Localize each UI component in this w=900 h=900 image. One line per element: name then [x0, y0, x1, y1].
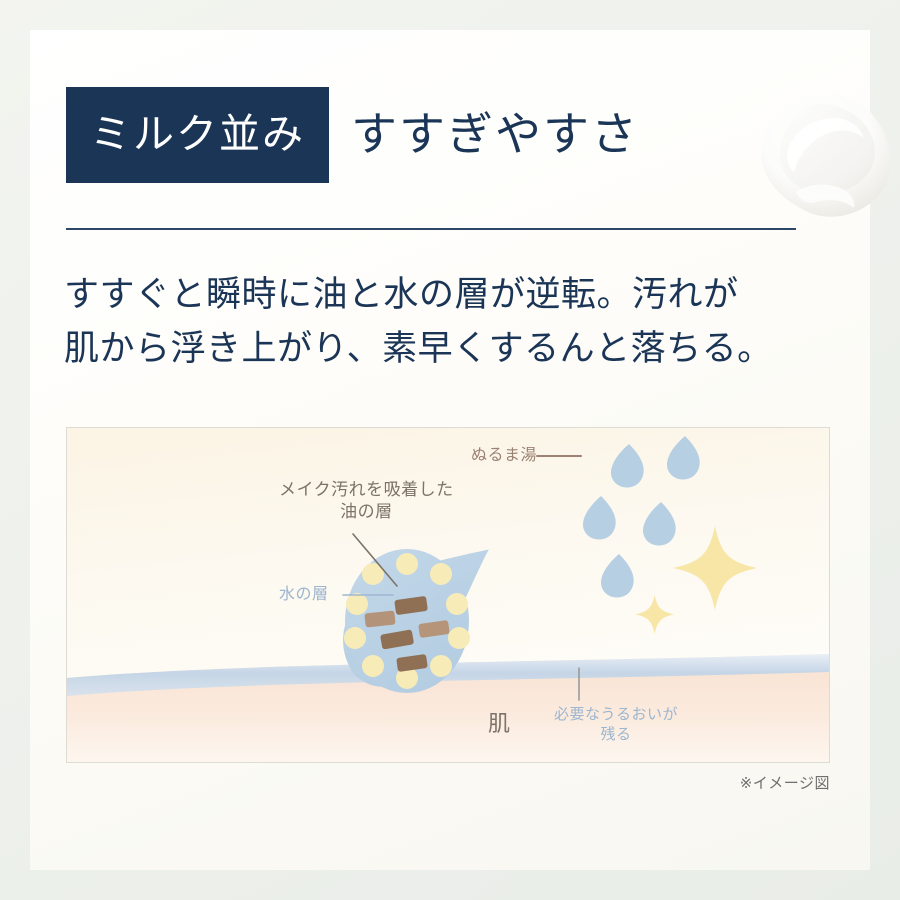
body-copy-line-1: すすぐと瞬時に油と水の層が逆転。汚れが [64, 268, 824, 322]
promo-page: ミルク並み すすぎやすさ [0, 0, 900, 900]
headline-divider [66, 228, 796, 230]
label-oil-layer-line-1: メイク汚れを吸着した [279, 479, 454, 501]
cream-dollop-icon [752, 88, 900, 228]
label-moisture-line-1: 必要なうるおいが [554, 705, 678, 725]
label-moisture-line-2: 残る [554, 725, 678, 745]
image-note: ※イメージ図 [30, 772, 830, 793]
content-card: ミルク並み すすぎやすさ [30, 30, 870, 870]
label-moisture: 必要なうるおいが 残る [554, 705, 678, 744]
mechanism-diagram: ぬるま湯 メイク汚れを吸着した 油の層 水の層 肌 必要なうるおいが 残る [66, 427, 830, 763]
label-warm-water: ぬるま湯 [471, 446, 537, 467]
body-copy-line-2: 肌から浮き上がり、素早くするんと落ちる。 [64, 322, 824, 376]
body-copy: すすぐと瞬時に油と水の層が逆転。汚れが 肌から浮き上がり、素早くするんと落ちる。 [64, 268, 824, 377]
label-oil-layer-line-2: 油の層 [279, 501, 454, 523]
label-oil-layer: メイク汚れを吸着した 油の層 [279, 479, 454, 523]
headline-text: すすぎやすさ [351, 112, 639, 158]
headline: ミルク並み すすぎやすさ [66, 80, 639, 190]
label-water-layer: 水の層 [279, 585, 329, 606]
headline-badge: ミルク並み [66, 87, 329, 183]
label-skin: 肌 [488, 710, 511, 739]
